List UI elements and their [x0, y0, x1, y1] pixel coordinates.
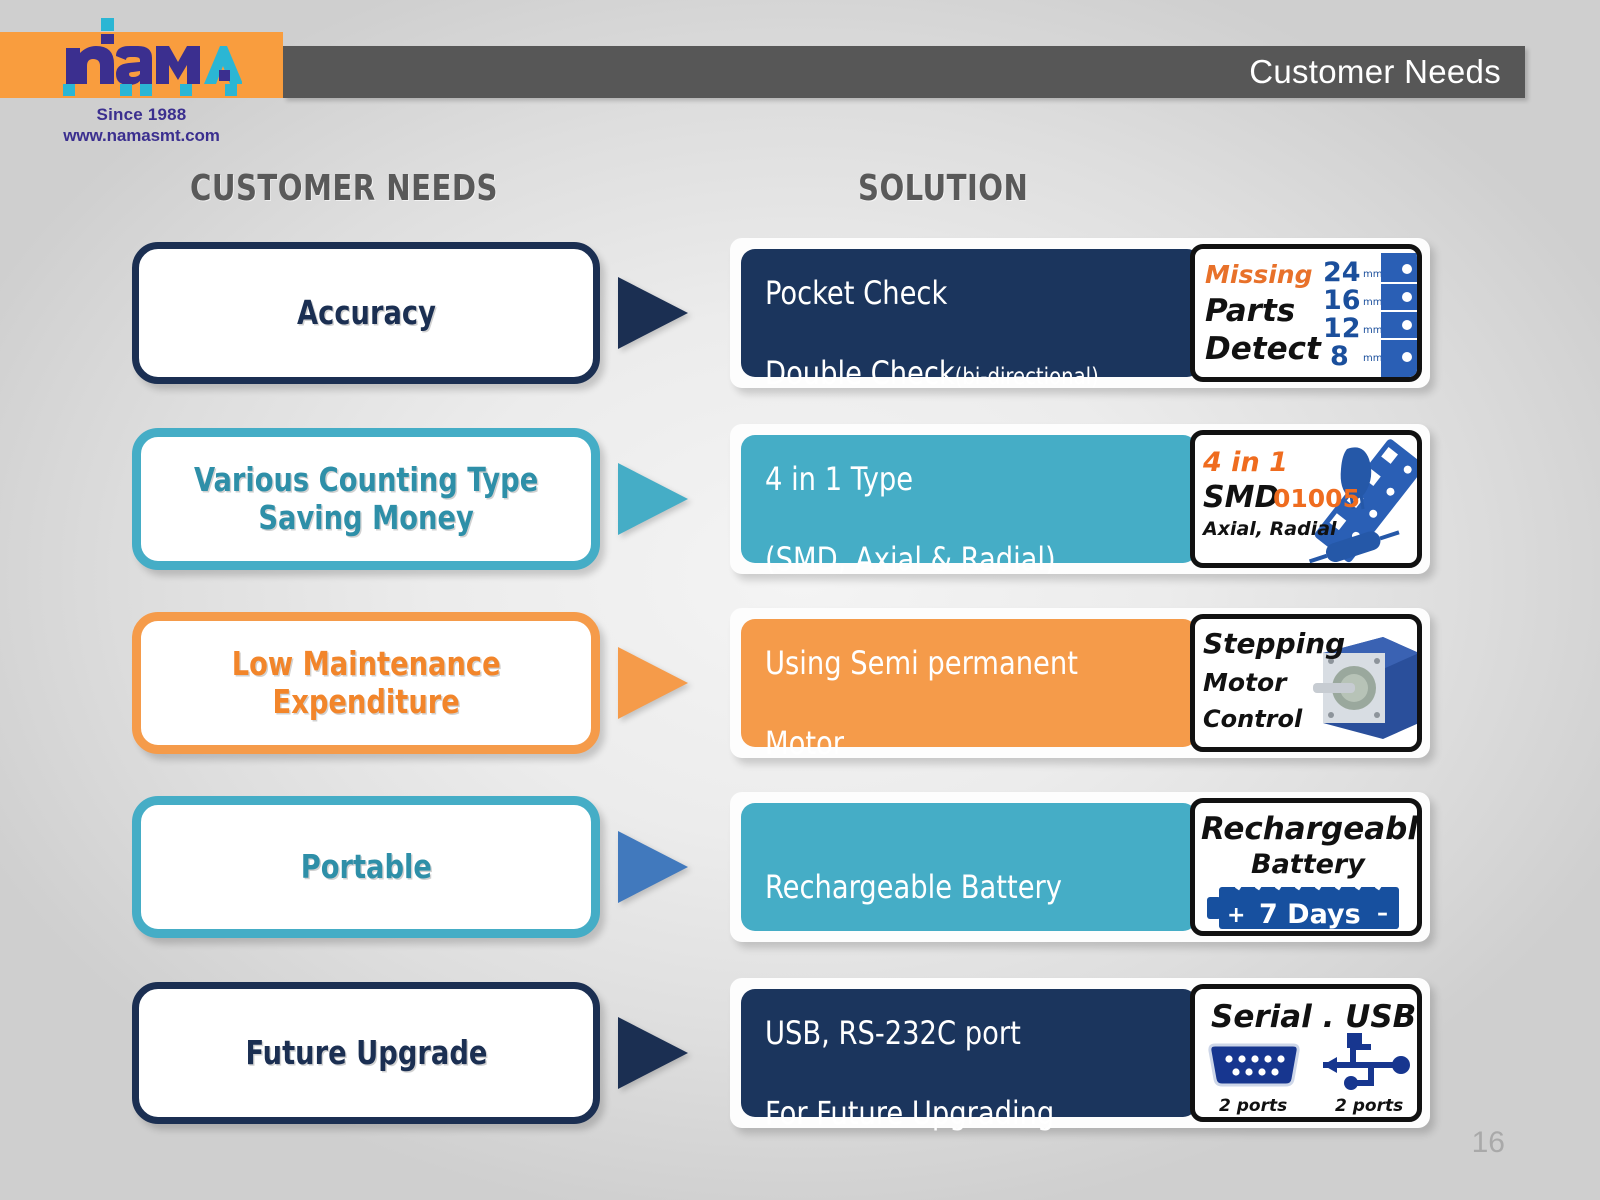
solution-text: Pocket Check Double Check(bi-directional…	[765, 232, 1099, 393]
svg-text:4 in 1: 4 in 1	[1202, 447, 1288, 478]
column-header-customer-needs: CUSTOMER NEEDS	[190, 168, 498, 209]
solution-bar: Rechargeable Battery	[741, 803, 1197, 931]
solution-bar: USB, RS-232C port For Future Upgrading	[741, 989, 1197, 1117]
svg-text:mm: mm	[1363, 325, 1382, 336]
slide-title-bar: Customer Needs	[283, 46, 1525, 98]
arrow-icon-various-counting-type	[618, 463, 688, 535]
page-title: Customer Needs	[1249, 53, 1501, 91]
solution-text: Rechargeable Battery	[765, 827, 1062, 908]
nama-wordmark-icon	[62, 18, 242, 96]
svg-text:mm: mm	[1363, 297, 1382, 308]
svg-text:+: +	[1227, 903, 1245, 928]
need-box-accuracy[interactable]: Accuracy	[132, 242, 600, 384]
svg-text:01005: 01005	[1273, 484, 1360, 513]
svg-text:Axial, Radial: Axial, Radial	[1201, 518, 1337, 540]
svg-text:–: –	[1377, 901, 1388, 926]
svg-text:2 ports: 2 ports	[1219, 1096, 1287, 1116]
solution-line-1: USB, RS-232C port	[765, 1014, 1021, 1052]
need-box-low-maintenance[interactable]: Low Maintenance Expenditure	[132, 612, 600, 754]
solution-line-2: For Future Upgrading	[765, 1094, 1054, 1132]
solution-text: 4 in 1 Type (SMD, Axial & Radial)	[765, 418, 1056, 579]
serial-usb-ports-icon: Serial . USB	[1190, 984, 1422, 1122]
solution-line-1: 4 in 1 Type	[765, 460, 913, 498]
svg-text:Stepping: Stepping	[1203, 627, 1345, 660]
need-box-portable[interactable]: Portable	[132, 796, 600, 938]
need-box-various-counting-type[interactable]: Various Counting Type Saving Money	[132, 428, 600, 570]
need-label: Portable	[300, 848, 431, 886]
svg-text:Missing: Missing	[1205, 260, 1313, 289]
arrow-icon-accuracy	[618, 277, 688, 349]
arrow-icon-future-upgrade	[618, 1017, 688, 1089]
svg-text:Battery: Battery	[1251, 849, 1366, 880]
stepping-motor-control-icon: Stepping Motor Control	[1190, 614, 1422, 752]
column-header-solution: SOLUTION	[858, 168, 1028, 209]
four-in-one-smd-icon: 4 in 1 SMD 01005 Axial, Radial	[1190, 430, 1422, 568]
arrow-icon-low-maintenance	[618, 647, 688, 719]
need-label: Accuracy	[297, 294, 436, 332]
solution-card-stepping-motor[interactable]: Using Semi permanent Motor	[730, 608, 1430, 758]
need-label: Future Upgrade	[245, 1034, 487, 1072]
solution-line-1: Using Semi permanent	[765, 644, 1078, 682]
solution-card-four-in-one[interactable]: 4 in 1 Type (SMD, Axial & Radial)	[730, 424, 1430, 574]
solution-bar: Pocket Check Double Check(bi-directional…	[741, 249, 1201, 377]
solution-line-2: Motor	[765, 724, 844, 762]
svg-text:24: 24	[1323, 257, 1361, 288]
solution-text: Using Semi permanent Motor	[765, 602, 1078, 763]
svg-text:2 ports: 2 ports	[1335, 1096, 1403, 1116]
row-portable: Portable Rechargeable Battery Rechargeab…	[0, 792, 1600, 942]
rechargeable-battery-icon: Rechargeable Battery + 7 Days –	[1190, 798, 1422, 936]
row-accuracy: Accuracy Pocket Check Double Check(bi-di…	[0, 238, 1600, 388]
brand-logo: Since 1988 www.namasmt.com	[0, 0, 300, 150]
solution-card-accuracy[interactable]: Pocket Check Double Check(bi-directional…	[730, 238, 1430, 388]
svg-text:7 Days: 7 Days	[1259, 899, 1361, 930]
need-label: Low Maintenance Expenditure	[232, 645, 501, 720]
svg-text:16: 16	[1323, 285, 1361, 316]
row-various-counting-type: Various Counting Type Saving Money 4 in …	[0, 424, 1600, 574]
solution-note: (bi-directional)	[955, 364, 1099, 390]
svg-text:Detect: Detect	[1205, 331, 1322, 367]
need-label: Various Counting Type Saving Money	[194, 461, 538, 536]
solution-bar: Using Semi permanent Motor	[741, 619, 1197, 747]
solution-text: USB, RS-232C port For Future Upgrading	[765, 972, 1054, 1133]
svg-text:mm: mm	[1363, 353, 1382, 364]
svg-text:8: 8	[1330, 341, 1349, 372]
svg-text:Parts: Parts	[1205, 293, 1295, 329]
solution-bar: 4 in 1 Type (SMD, Axial & Radial)	[741, 435, 1197, 563]
need-box-future-upgrade[interactable]: Future Upgrade	[132, 982, 600, 1124]
svg-text:Control: Control	[1203, 705, 1303, 733]
solution-card-rechargeable-battery[interactable]: Rechargeable Battery Rechargeable Batter…	[730, 792, 1430, 942]
solution-line-1: Rechargeable Battery	[765, 868, 1062, 906]
page-number: 16	[1472, 1126, 1505, 1160]
row-low-maintenance: Low Maintenance Expenditure Using Semi p…	[0, 608, 1600, 758]
svg-text:Motor: Motor	[1203, 668, 1288, 697]
solution-line-1: Pocket Check	[765, 274, 947, 312]
missing-parts-detect-icon: Missing Parts Detect 24 16 12 8 mm mm mm…	[1190, 244, 1422, 382]
arrow-icon-portable	[618, 831, 688, 903]
logo-tagline: Since 1988 www.namasmt.com	[0, 104, 283, 147]
svg-text:SMD: SMD	[1203, 480, 1279, 515]
solution-card-serial-usb[interactable]: USB, RS-232C port For Future Upgrading S…	[730, 978, 1430, 1128]
svg-text:12: 12	[1323, 313, 1361, 344]
logo-since: Since 1988	[0, 104, 283, 125]
row-future-upgrade: Future Upgrade USB, RS-232C port For Fut…	[0, 978, 1600, 1128]
solution-line-2: Double Check	[765, 354, 955, 392]
svg-text:Serial . USB: Serial . USB	[1211, 999, 1416, 1035]
logo-website: www.namasmt.com	[0, 125, 283, 146]
svg-text:Rechargeable: Rechargeable	[1201, 811, 1419, 847]
solution-line-2: (SMD, Axial & Radial)	[765, 540, 1056, 578]
svg-text:mm: mm	[1363, 269, 1382, 280]
